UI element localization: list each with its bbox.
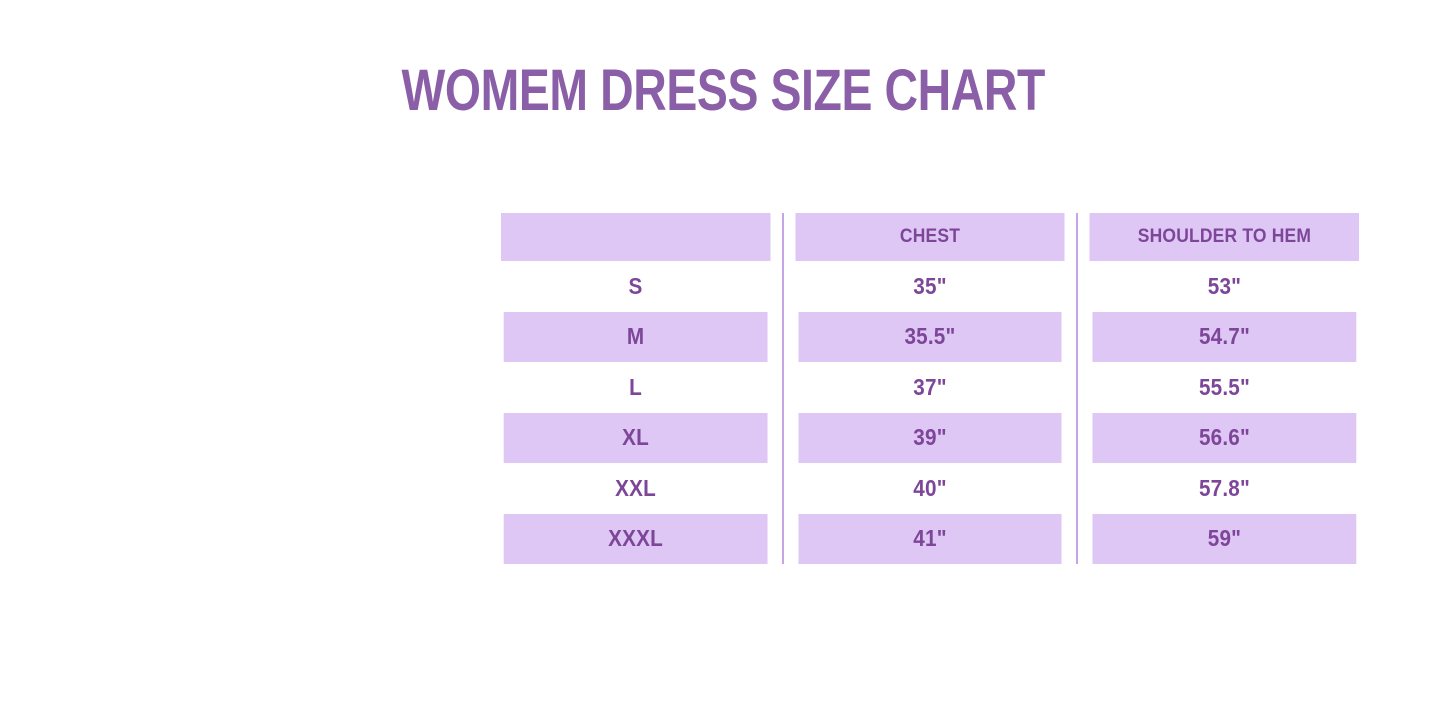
table-row: XXL 40" 57.8" — [489, 463, 1371, 514]
table-row: S 35" 53" — [489, 261, 1371, 312]
table-row: XL 39" 56.6" — [489, 413, 1371, 464]
table-row: L 37" 55.5" — [489, 362, 1371, 413]
cell-shoulder-to-hem: 53" — [1092, 261, 1357, 312]
table-body: S 35" 53" M 35.5" 54.7" L 37" 55.5" XL 3… — [489, 261, 1371, 564]
cell-chest: 37" — [798, 362, 1063, 413]
cell-shoulder-to-hem: 55.5" — [1092, 362, 1357, 413]
cell-size: L — [504, 362, 769, 413]
cell-size: XL — [504, 413, 769, 464]
cell-size: M — [504, 312, 769, 363]
cell-chest: 40" — [798, 463, 1063, 514]
cell-chest: 39" — [798, 413, 1063, 464]
cell-size: XXL — [504, 463, 769, 514]
cell-size: XXXL — [504, 514, 769, 565]
cell-chest: 35" — [798, 261, 1063, 312]
cell-shoulder-to-hem: 57.8" — [1092, 463, 1357, 514]
table-row: XXXL 41" 59" — [489, 514, 1371, 565]
cell-shoulder-to-hem: 54.7" — [1092, 312, 1357, 363]
column-header-shoulder-to-hem: SHOULDER TO HEM — [1089, 213, 1359, 261]
table-header: CHEST SHOULDER TO HEM — [489, 213, 1371, 261]
column-header-size — [501, 213, 771, 261]
cell-chest: 41" — [798, 514, 1063, 565]
cell-shoulder-to-hem: 56.6" — [1092, 413, 1357, 464]
cell-size: S — [504, 261, 769, 312]
page-title: WOMEM DRESS SIZE CHART — [0, 57, 1445, 125]
size-chart-page: WOMEM DRESS SIZE CHART CHEST SHOULDER TO… — [0, 0, 1445, 723]
table-row: M 35.5" 54.7" — [489, 312, 1371, 363]
column-header-chest: CHEST — [795, 213, 1065, 261]
table-header-row: CHEST SHOULDER TO HEM — [489, 213, 1371, 261]
cell-shoulder-to-hem: 59" — [1092, 514, 1357, 565]
size-chart-table: CHEST SHOULDER TO HEM S 35" 53" M 35.5" … — [489, 213, 1371, 564]
cell-chest: 35.5" — [798, 312, 1063, 363]
